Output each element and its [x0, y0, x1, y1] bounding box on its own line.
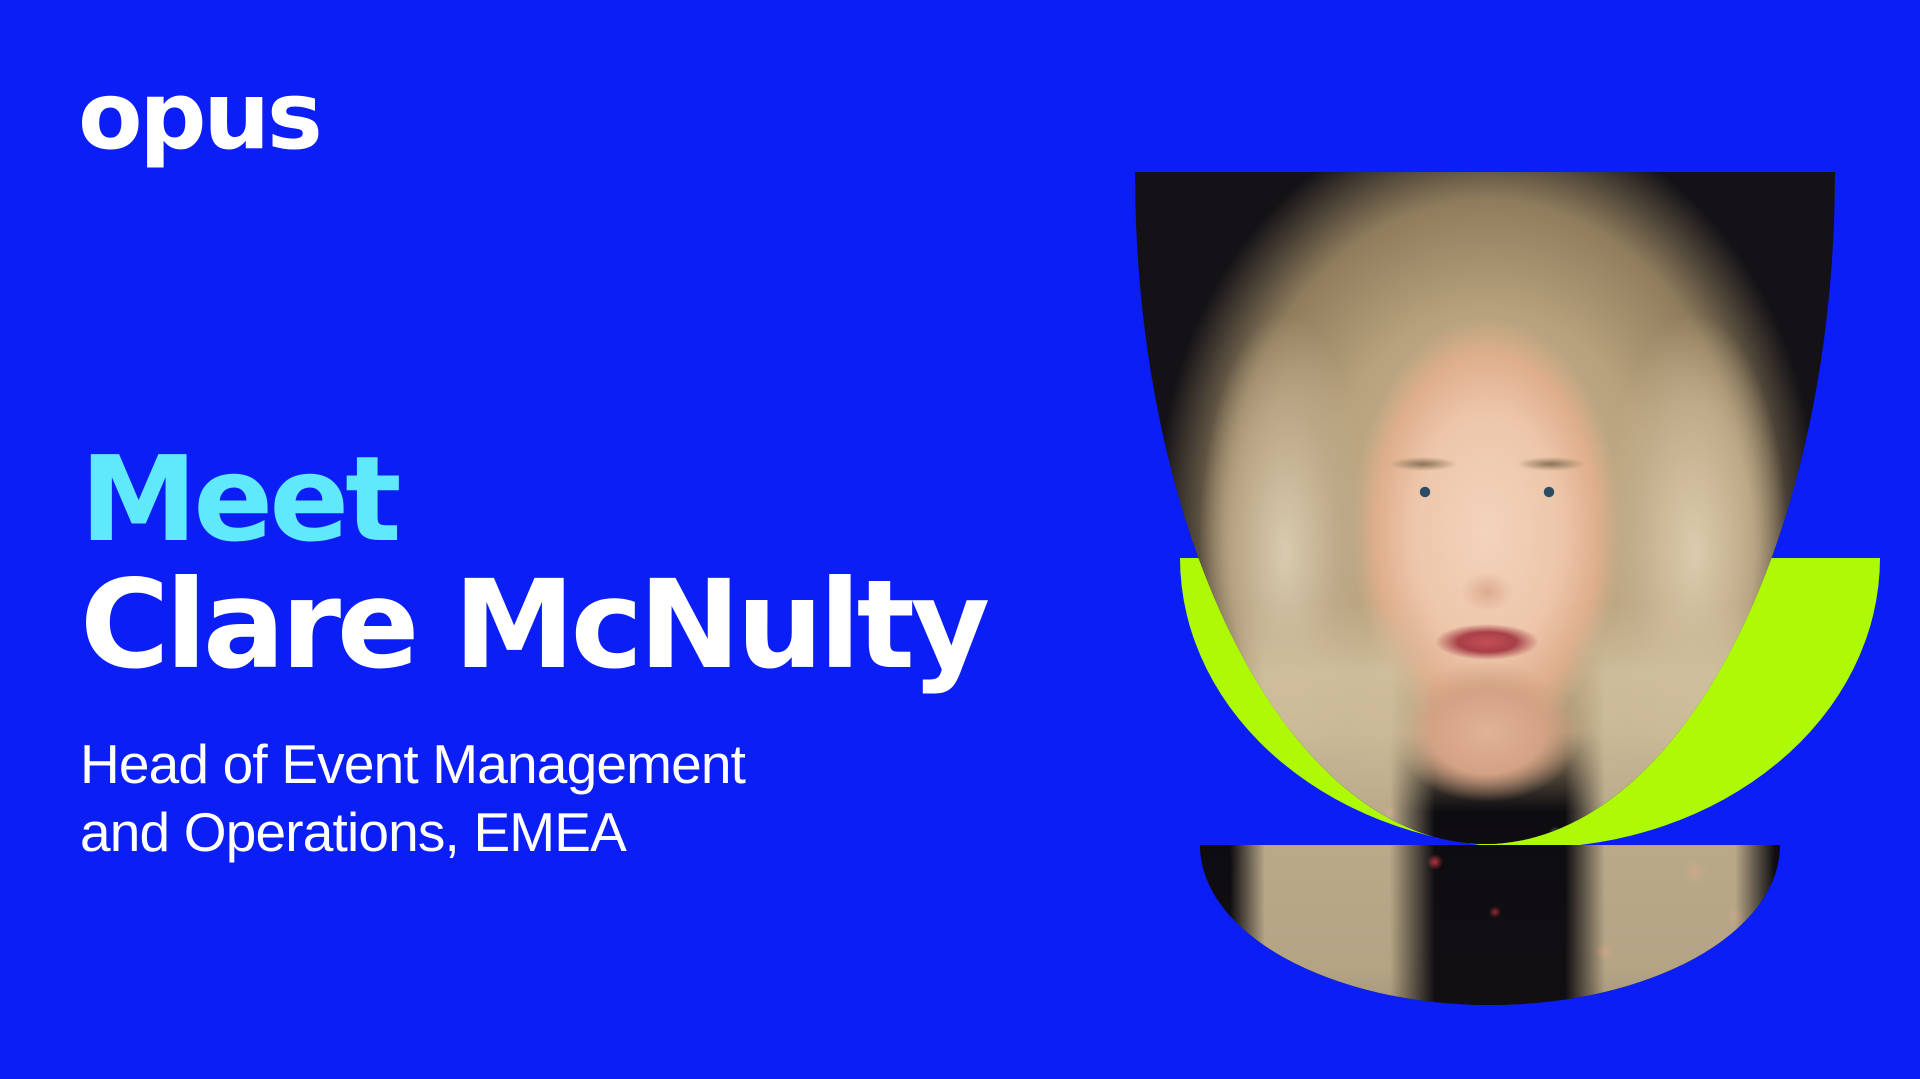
portrait-upper-mask — [1135, 172, 1835, 844]
hero-role-line-2: and Operations, EMEA — [80, 798, 1010, 866]
hero-text-block: Meet Clare McNulty Head of Event Managem… — [80, 440, 1010, 866]
hero-person-name: Clare McNulty — [80, 560, 1010, 692]
opus-logo: opus — [78, 70, 320, 164]
hero-role-line-1: Head of Event Management — [80, 730, 1010, 798]
hero-eyebrow: Meet — [80, 440, 1010, 558]
slide-canvas: opus Meet Clare McNulty Head of Event Ma… — [0, 0, 1920, 1079]
portrait-lower-mask — [1200, 845, 1780, 1005]
hero-person-role: Head of Event Management and Operations,… — [80, 730, 1010, 866]
hair-strands — [1135, 172, 1835, 844]
hair-strands-lower — [1200, 845, 1780, 1005]
portrait-graphic — [1060, 0, 1920, 1079]
